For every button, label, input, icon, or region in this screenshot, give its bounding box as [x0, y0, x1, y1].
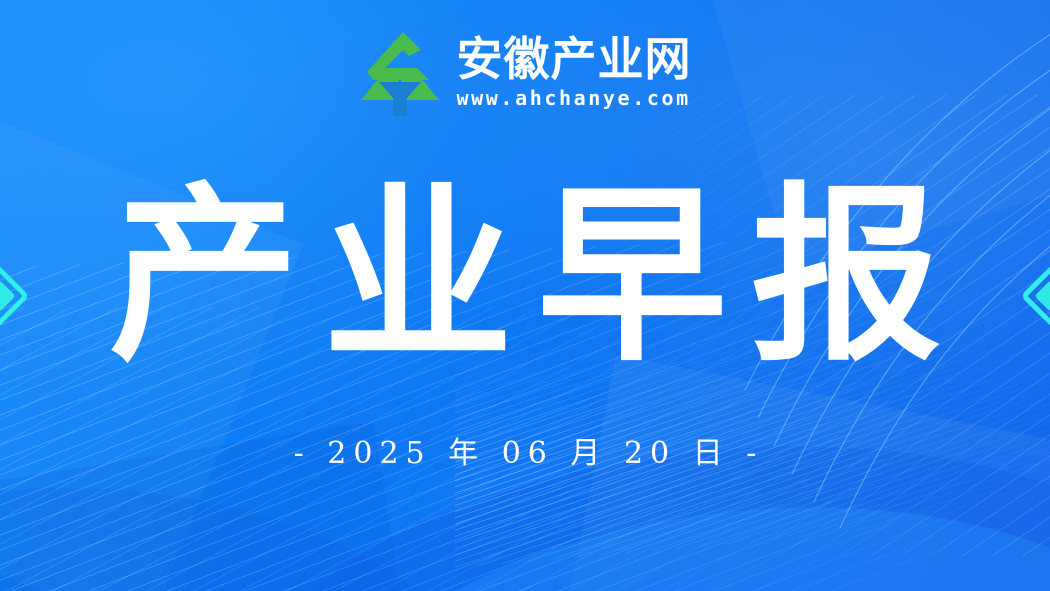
brand-website-url: www.ahchanye.com: [457, 87, 692, 109]
brand-name-cn: 安徽产业网: [457, 35, 692, 85]
brand-logo-lockup: 安徽产业网 www.ahchanye.com: [0, 26, 1050, 118]
brand-text-block: 安徽产业网 www.ahchanye.com: [457, 35, 692, 109]
tree-arrow-logo-icon: [359, 26, 441, 118]
publication-date: - 2025 年 06 月 20 日 -: [0, 428, 1050, 472]
industry-morning-report-poster: 安徽产业网 www.ahchanye.com 产业早报 - 2025 年 06 …: [0, 0, 1050, 591]
page-title: 产业早报: [0, 178, 1050, 376]
poster-content: 安徽产业网 www.ahchanye.com 产业早报 - 2025 年 06 …: [0, 0, 1050, 591]
